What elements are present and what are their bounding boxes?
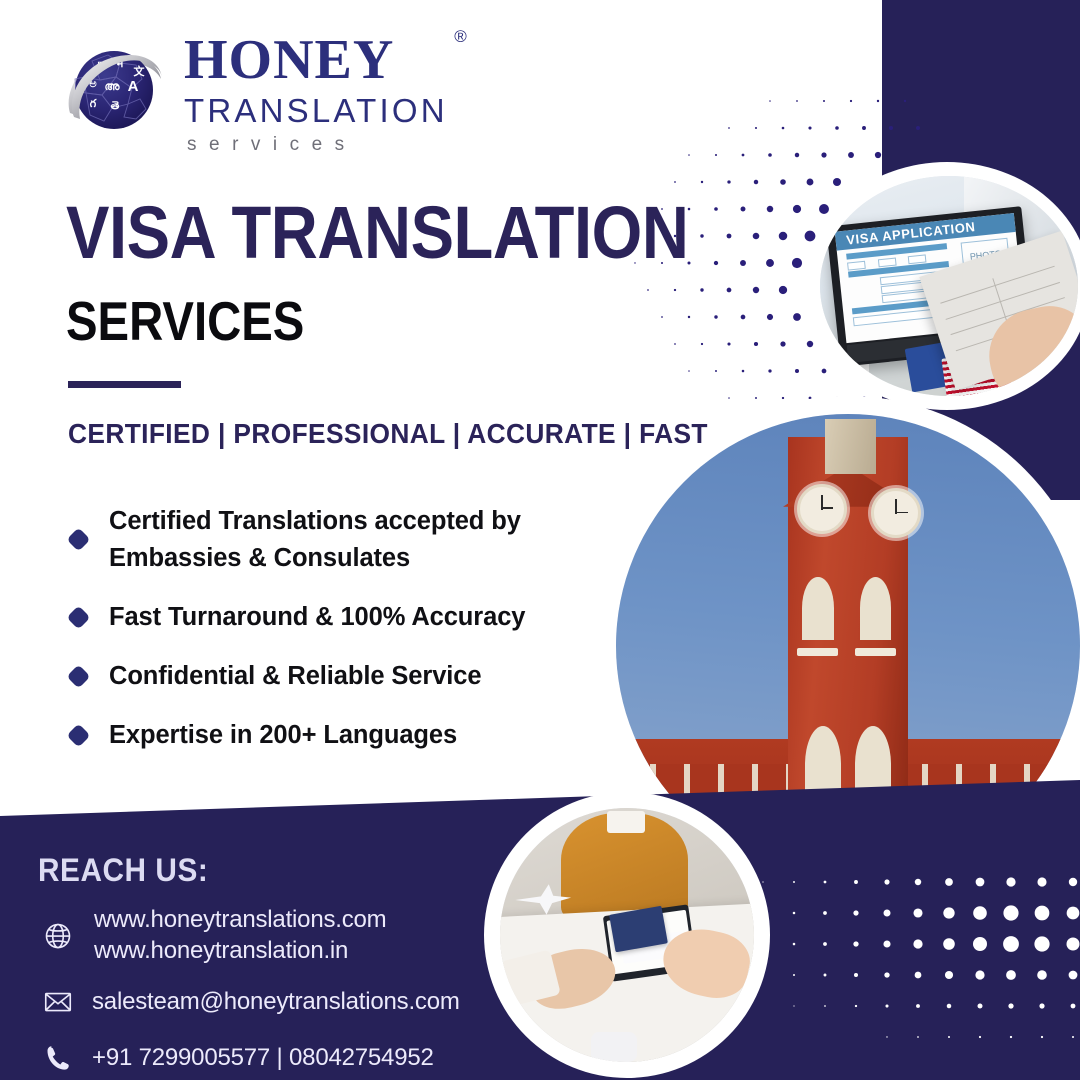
- form-checkbox: [847, 261, 866, 270]
- svg-text:A: A: [128, 78, 139, 95]
- globe-svg: க म 文 ಅ അ A గ తె: [62, 35, 170, 147]
- reach-us-label: REACH US:: [38, 852, 208, 889]
- bullet-diamond-icon: [66, 664, 90, 688]
- phone-icon: [38, 1038, 78, 1078]
- headline-line-2: SERVICES: [66, 294, 674, 349]
- email-text[interactable]: salesteam@honeytranslations.com: [92, 987, 460, 1018]
- headline-block: VISA TRANSLATION SERVICES: [66, 196, 773, 349]
- feature-text: Certified Translations accepted by Embas…: [109, 503, 622, 577]
- contact-row-website[interactable]: www.honeytranslations.com www.honeytrans…: [38, 905, 658, 966]
- globe-languages-icon: க म 文 ಅ അ A గ తె: [62, 35, 170, 147]
- list-item: Confidential & Reliable Service: [62, 658, 622, 695]
- phone-text[interactable]: +91 7299005577 | 08042754952: [92, 1043, 434, 1074]
- logo-name-secondary: TRANSLATION: [184, 94, 448, 127]
- form-checkbox: [908, 254, 927, 263]
- tower-arch: [802, 577, 833, 639]
- feature-text: Expertise in 200+ Languages: [109, 717, 457, 754]
- bullet-diamond-icon: [66, 605, 90, 629]
- poster-canvas: VISA TRANSLATION SERVICES CERTIFIED | PR…: [0, 0, 1080, 1080]
- list-item: Expertise in 200+ Languages: [62, 717, 622, 754]
- svg-text:文: 文: [134, 64, 146, 78]
- headline-line-1: VISA TRANSLATION: [66, 196, 688, 270]
- tower-balcony: [855, 648, 896, 656]
- form-title: VISA APPLICATION: [845, 219, 976, 247]
- list-item: Certified Translations accepted by Embas…: [62, 503, 622, 577]
- logo-name-primary: HONEY ®: [184, 32, 448, 88]
- svg-text:తె: తె: [111, 100, 120, 112]
- headline-divider-rule: [68, 381, 181, 388]
- envelope-icon: [38, 982, 78, 1022]
- tagline: CERTIFIED | PROFESSIONAL | ACCURATE | FA…: [68, 418, 708, 450]
- logo-honey-text: HONEY: [184, 29, 394, 91]
- feature-text: Fast Turnaround & 100% Accuracy: [109, 599, 525, 636]
- tower-balcony: [797, 648, 838, 656]
- website-line-2[interactable]: www.honeytranslation.in: [94, 936, 386, 967]
- feature-text: Confidential & Reliable Service: [109, 658, 481, 695]
- website-text[interactable]: www.honeytranslations.com www.honeytrans…: [94, 905, 386, 966]
- svg-text:അ: അ: [105, 81, 121, 93]
- globe-icon: [38, 916, 78, 956]
- contact-row-phone[interactable]: +91 7299005577 | 08042754952: [38, 1038, 658, 1078]
- brand-logo[interactable]: க म 文 ಅ അ A గ తె HONEY ® TRANSLATION ser…: [62, 28, 448, 154]
- bullet-diamond-icon: [66, 723, 90, 747]
- logo-name-tertiary: services: [184, 135, 448, 154]
- logo-wordmark: HONEY ® TRANSLATION services: [184, 28, 448, 154]
- clock-face: [797, 484, 847, 534]
- registered-mark-icon: ®: [454, 28, 468, 45]
- website-line-1[interactable]: www.honeytranslations.com: [94, 905, 386, 936]
- tower-spire: [825, 419, 876, 475]
- bullet-diamond-icon: [66, 527, 90, 551]
- form-checkbox: [877, 257, 896, 266]
- contact-list: www.honeytranslations.com www.honeytrans…: [38, 905, 658, 1080]
- visa-application-photo: VISA APPLICATION PHOTO HERE: [820, 176, 1078, 396]
- feature-list: Certified Translations accepted by Embas…: [62, 503, 622, 776]
- svg-text:గ: గ: [90, 98, 97, 110]
- shirt-collar: [607, 811, 645, 834]
- list-item: Fast Turnaround & 100% Accuracy: [62, 599, 622, 636]
- tower-arch: [860, 577, 891, 639]
- contact-row-email[interactable]: salesteam@honeytranslations.com: [38, 982, 658, 1022]
